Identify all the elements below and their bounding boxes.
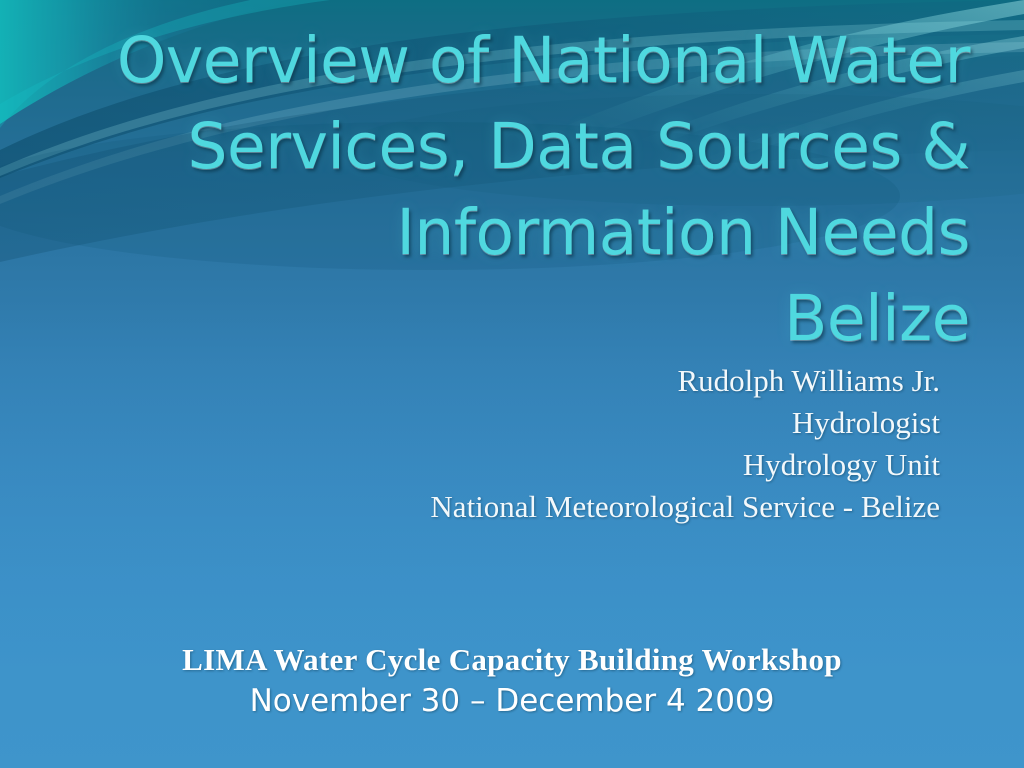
title-line-1: Overview of National Water	[60, 18, 970, 104]
event-name: LIMA Water Cycle Capacity Building Works…	[0, 640, 1024, 680]
title-line-4: Belize	[60, 276, 970, 362]
author-role: Hydrologist	[120, 402, 940, 444]
title-line-2: Services, Data Sources &	[60, 104, 970, 190]
slide-title: Overview of National Water Services, Dat…	[60, 18, 970, 362]
title-slide: Overview of National Water Services, Dat…	[0, 0, 1024, 768]
author-unit: Hydrology Unit	[120, 444, 940, 486]
slide-footer: LIMA Water Cycle Capacity Building Works…	[0, 640, 1024, 722]
author-organization: National Meteorological Service - Belize	[120, 486, 940, 528]
slide-subtitle-author: Rudolph Williams Jr. Hydrologist Hydrolo…	[120, 360, 940, 528]
title-line-3: Information Needs	[60, 190, 970, 276]
author-name: Rudolph Williams Jr.	[120, 360, 940, 402]
event-dates: November 30 – December 4 2009	[0, 680, 1024, 722]
